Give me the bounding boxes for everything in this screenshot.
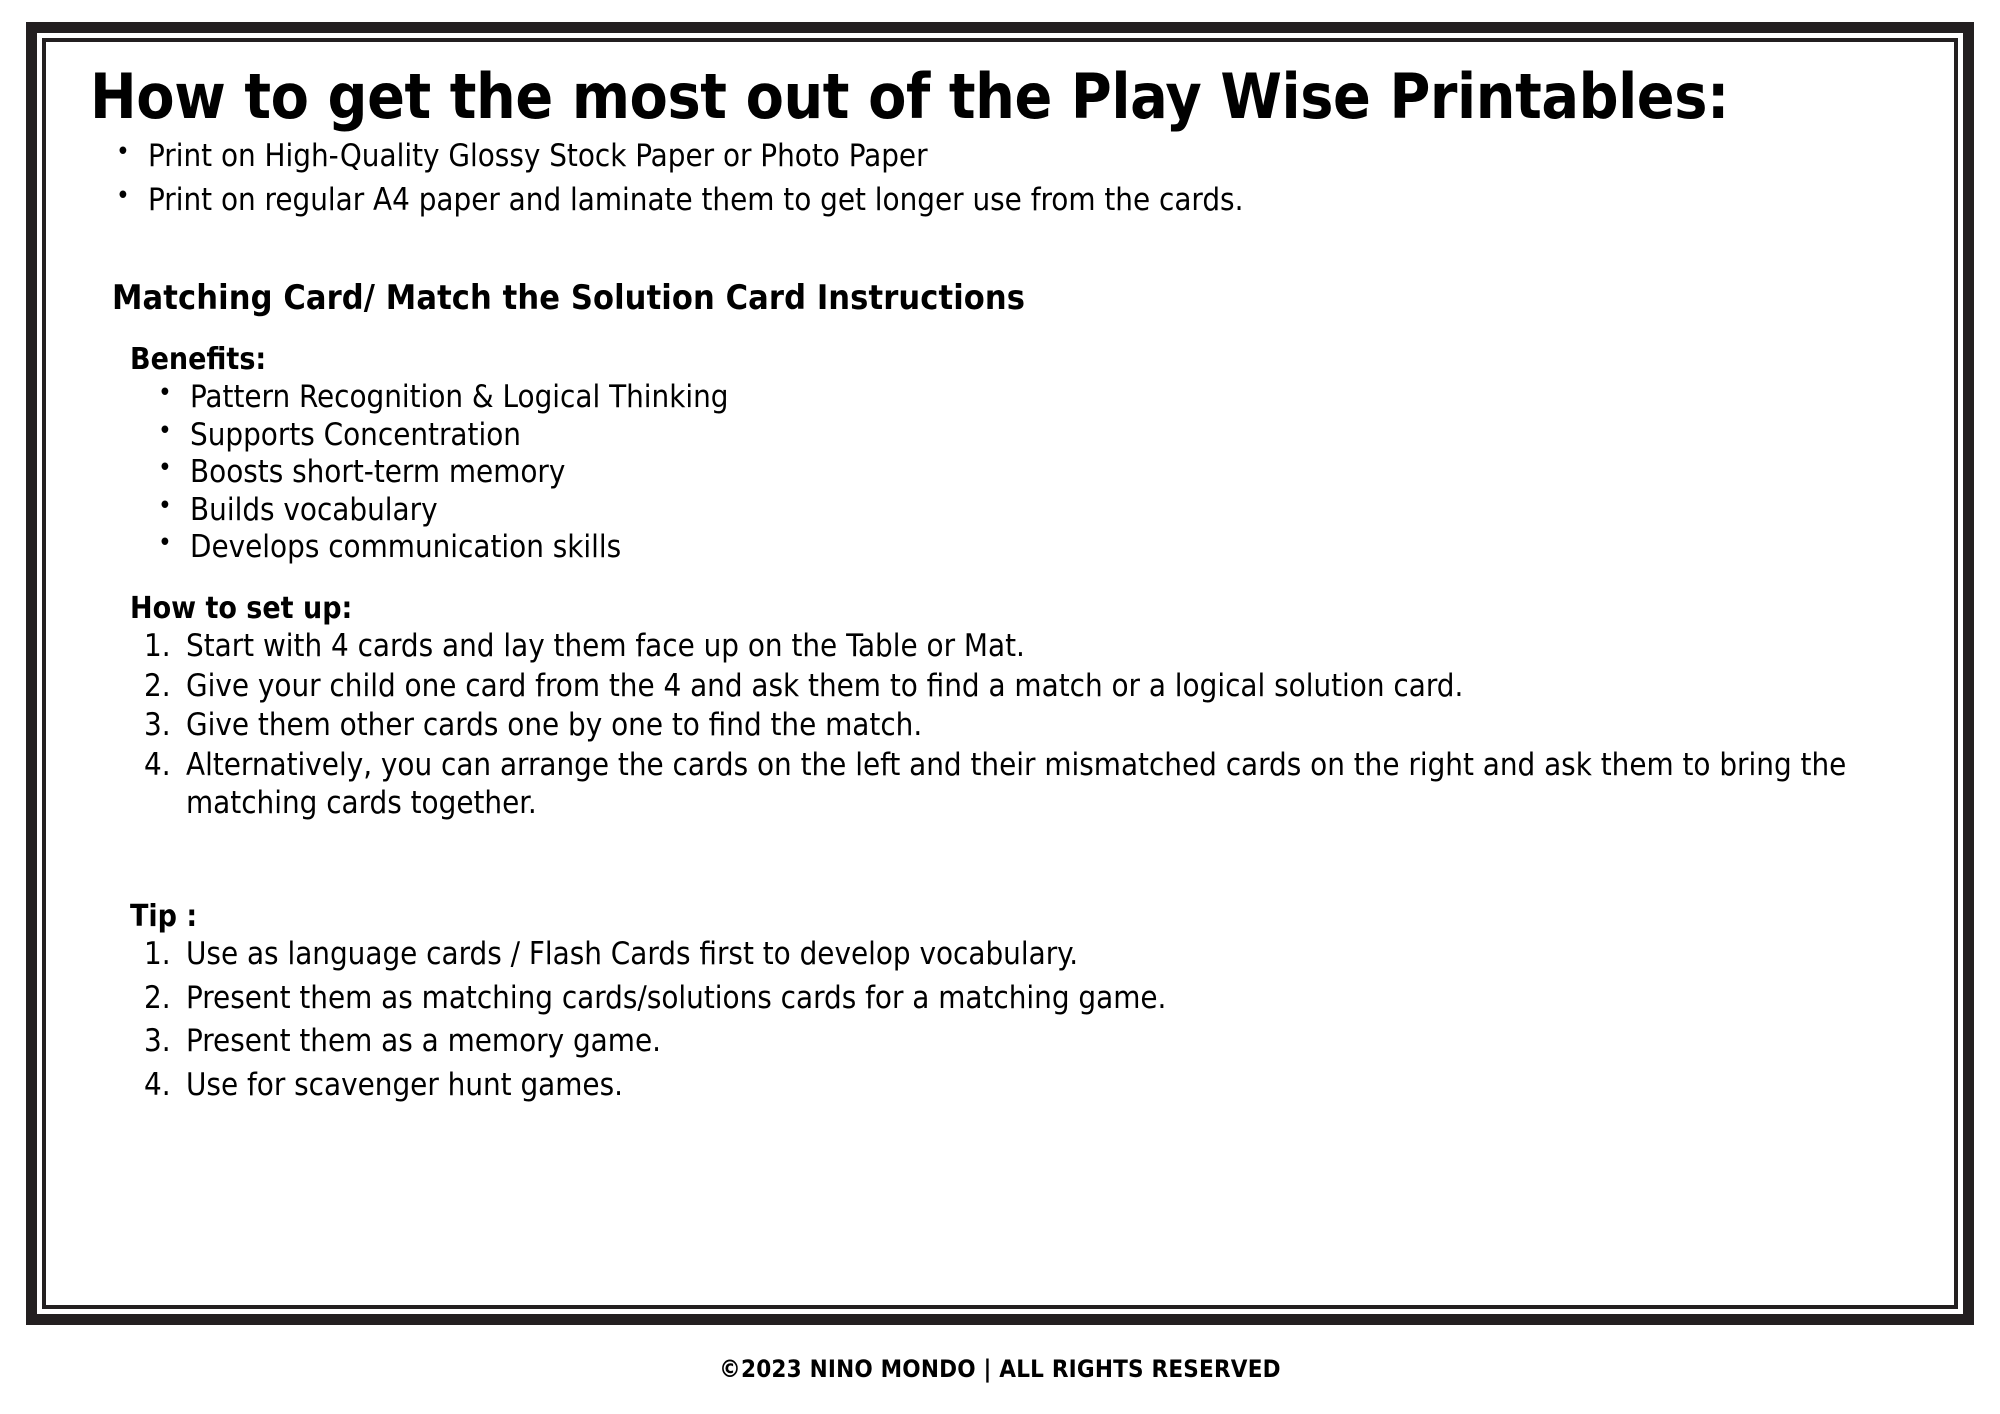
list-item: Boosts short-term memory <box>150 454 1914 492</box>
list-item: Give your child one card from the 4 and … <box>130 668 1914 706</box>
tips-list: Use as language cards / Flash Cards firs… <box>130 936 1914 1105</box>
list-item: Pattern Recognition & Logical Thinking <box>150 379 1914 417</box>
footer-copyright: ©2023 NINO MONDO | ALL RIGHTS RESERVED <box>0 1355 2000 1383</box>
list-item: Present them as a memory game. <box>130 1023 1914 1061</box>
list-item: Use as language cards / Flash Cards firs… <box>130 936 1914 974</box>
list-item: Give them other cards one by one to find… <box>130 707 1914 745</box>
list-item: Builds vocabulary <box>150 492 1914 530</box>
document-frame-inner: How to get the most out of the Play Wise… <box>42 38 1958 1309</box>
section-heading-matching-card: Matching Card/ Match the Solution Card I… <box>112 278 1914 318</box>
list-item: Start with 4 cards and lay them face up … <box>130 628 1914 666</box>
list-item: Print on regular A4 paper and laminate t… <box>108 181 1914 221</box>
list-item: Present them as matching cards/solutions… <box>130 980 1914 1018</box>
list-item: Supports Concentration <box>150 417 1914 455</box>
tip-label: Tip : <box>130 899 1914 934</box>
document-content: How to get the most out of the Play Wise… <box>46 42 1954 1305</box>
setup-label: How to set up: <box>130 591 1914 626</box>
section-body: Benefits: Pattern Recognition & Logical … <box>130 342 1914 1105</box>
list-item: Use for scavenger hunt games. <box>130 1067 1914 1105</box>
list-item: Alternatively, you can arrange the cards… <box>130 747 1914 823</box>
print-tips-list: Print on High-Quality Glossy Stock Paper… <box>90 137 1914 220</box>
setup-steps-list: Start with 4 cards and lay them face up … <box>130 628 1914 823</box>
document-frame-outer: How to get the most out of the Play Wise… <box>26 22 1974 1325</box>
page-title: How to get the most out of the Play Wise… <box>90 64 1914 131</box>
benefits-list: Pattern Recognition & Logical Thinking S… <box>130 379 1914 567</box>
list-item: Develops communication skills <box>150 529 1914 567</box>
list-item: Print on High-Quality Glossy Stock Paper… <box>108 137 1914 177</box>
printable-instructions-page: How to get the most out of the Play Wise… <box>0 0 2000 1414</box>
benefits-label: Benefits: <box>130 342 1914 377</box>
